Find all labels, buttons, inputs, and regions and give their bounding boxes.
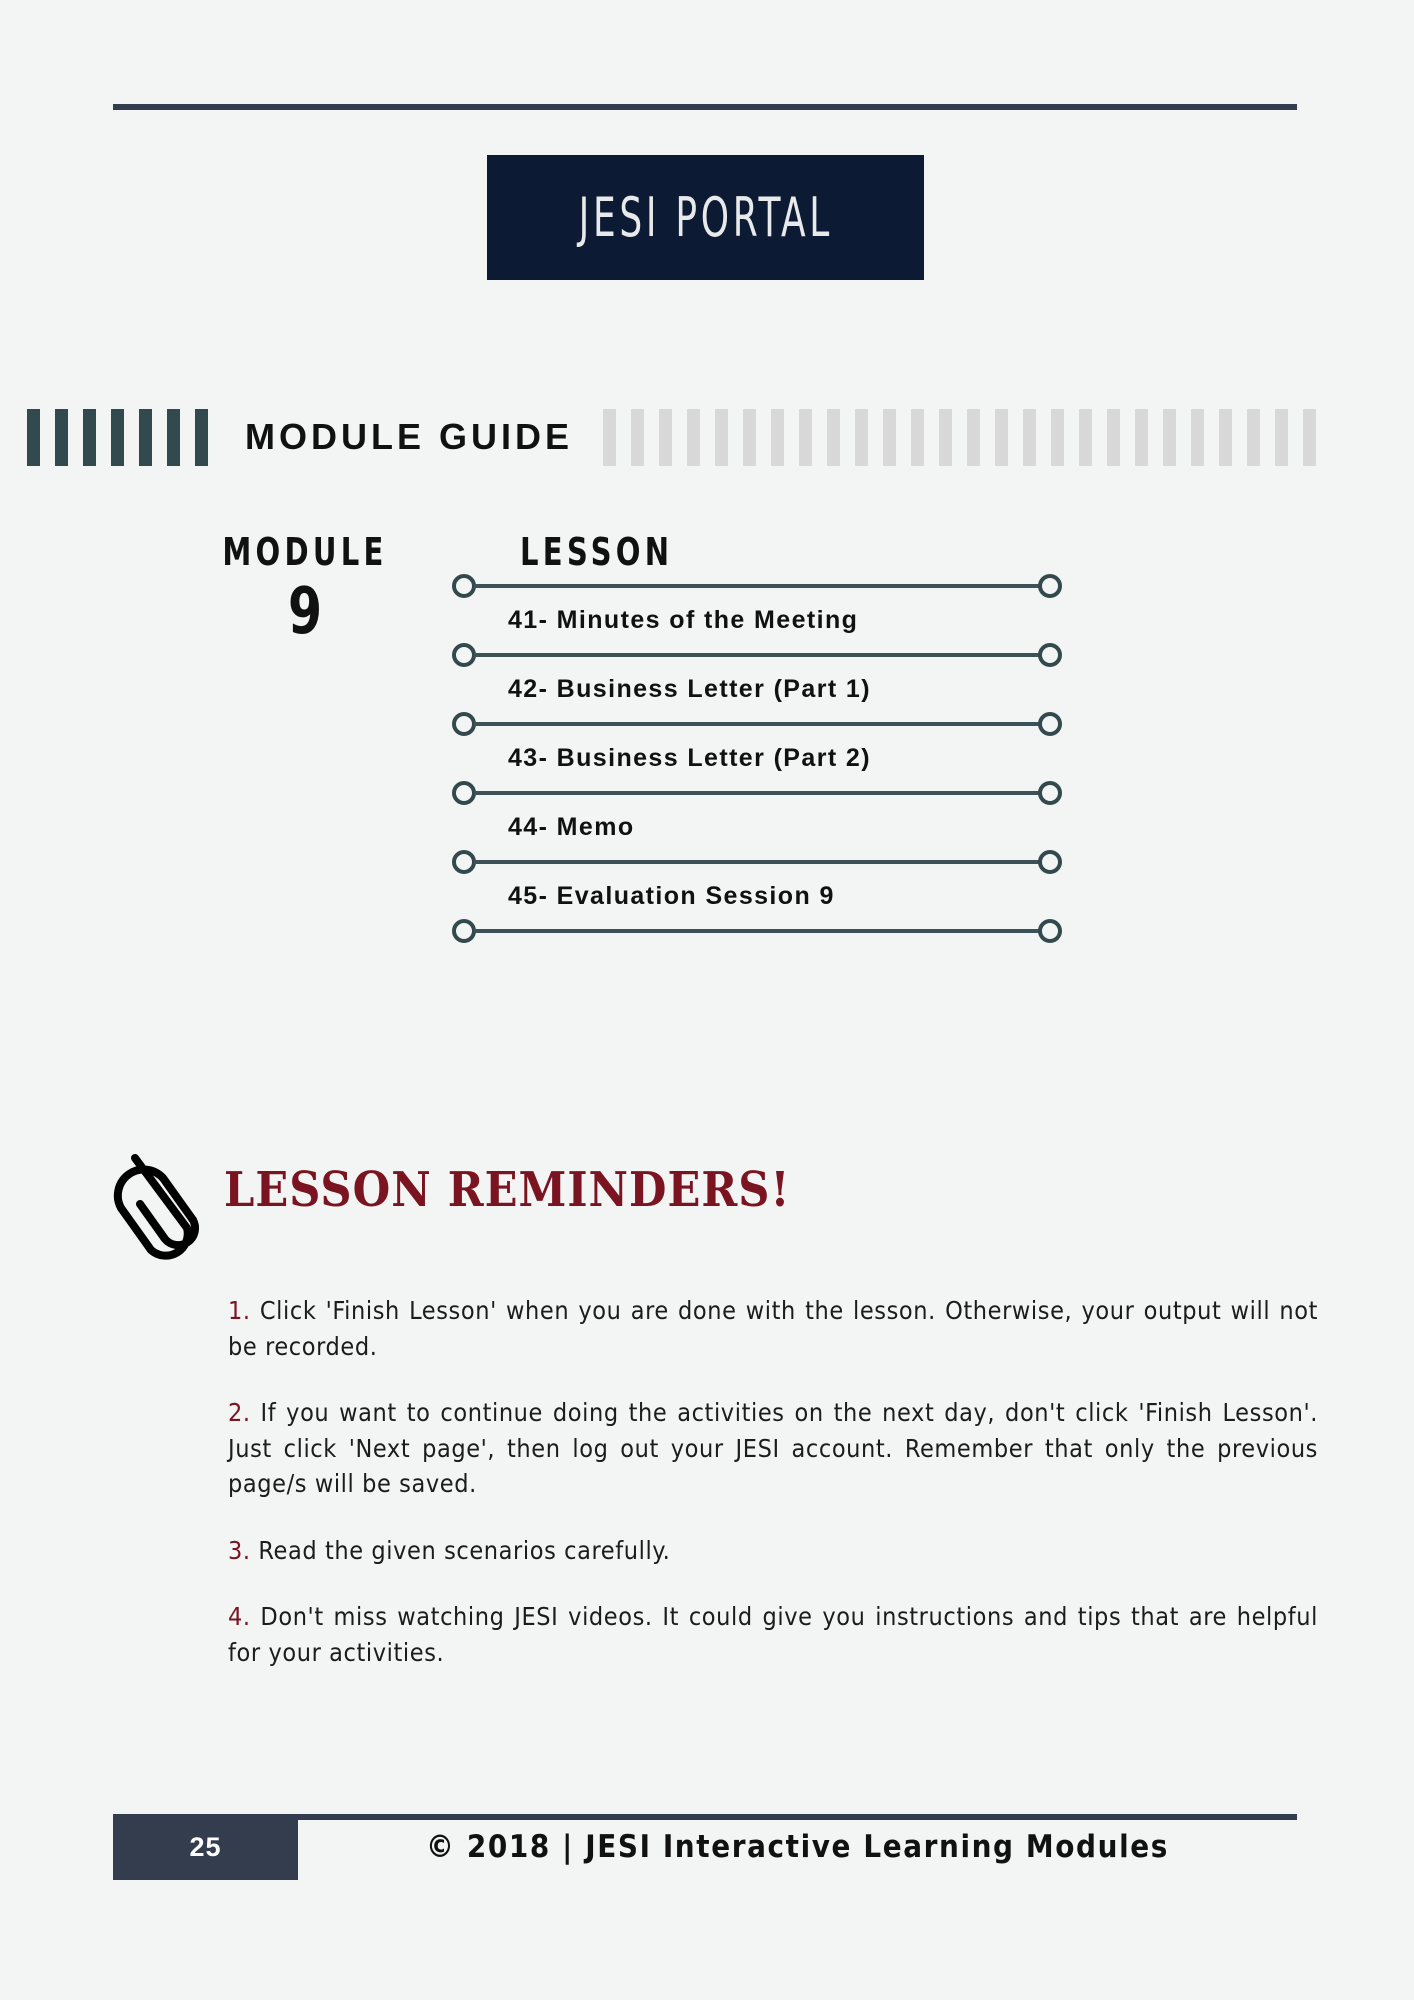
lesson-divider-rail xyxy=(452,919,1062,943)
tick-mark-light xyxy=(1219,409,1232,466)
lesson-list: 41- Minutes of the Meeting42- Business L… xyxy=(452,574,1062,943)
tick-mark-light xyxy=(743,409,756,466)
rail-ring-left xyxy=(452,574,476,598)
tick-mark-light xyxy=(939,409,952,466)
paperclip-icon xyxy=(104,1136,216,1266)
document-page: JESI PORTAL MODULE GUIDE MODULE 9 LESSON… xyxy=(0,0,1414,2000)
tick-mark-dark xyxy=(167,409,180,466)
rail-ring-right xyxy=(1038,643,1062,667)
tick-mark-light xyxy=(1051,409,1064,466)
tick-mark-light xyxy=(1023,409,1036,466)
rail-ring-right xyxy=(1038,781,1062,805)
tick-mark-light xyxy=(799,409,812,466)
tick-mark-light xyxy=(827,409,840,466)
rail-ring-left xyxy=(452,919,476,943)
lesson-heading: LESSON xyxy=(520,530,981,574)
reminder-item: 4. Don't miss watching JESI videos. It c… xyxy=(228,1599,1318,1670)
tick-mark-light xyxy=(883,409,896,466)
reminder-number: 1. xyxy=(228,1296,251,1325)
reminder-number: 2. xyxy=(228,1398,251,1427)
tick-mark-light xyxy=(603,409,616,466)
top-divider-rule xyxy=(113,104,1297,110)
lesson-divider-rail xyxy=(452,712,1062,736)
module-guide-title: MODULE GUIDE xyxy=(245,416,573,458)
tick-mark-light xyxy=(631,409,644,466)
tick-mark-dark xyxy=(27,409,40,466)
module-label: MODULE xyxy=(216,530,395,574)
tick-mark-light xyxy=(1247,409,1260,466)
reminder-item: 1. Click 'Finish Lesson' when you are do… xyxy=(228,1293,1318,1364)
reminder-number: 3. xyxy=(228,1536,251,1565)
tick-mark-light xyxy=(995,409,1008,466)
reminder-item: 2. If you want to continue doing the act… xyxy=(228,1395,1318,1502)
module-number: 9 xyxy=(216,580,395,644)
rail-bar xyxy=(474,860,1040,864)
tick-group-right xyxy=(603,409,1414,466)
tick-mark-light xyxy=(715,409,728,466)
tick-mark-light xyxy=(659,409,672,466)
tick-mark-light xyxy=(771,409,784,466)
rail-bar xyxy=(474,584,1040,588)
reminder-text: Don't miss watching JESI videos. It coul… xyxy=(228,1602,1318,1667)
module-guide-band: MODULE GUIDE xyxy=(0,406,1414,468)
reminders-list: 1. Click 'Finish Lesson' when you are do… xyxy=(228,1268,1318,1670)
tick-mark-light xyxy=(1107,409,1120,466)
portal-title: JESI PORTAL xyxy=(578,186,832,249)
rail-bar xyxy=(474,929,1040,933)
reminder-item: 3. Read the given scenarios carefully. xyxy=(228,1533,1318,1569)
tick-mark-light xyxy=(911,409,924,466)
tick-mark-light xyxy=(967,409,980,466)
rail-ring-left xyxy=(452,850,476,874)
lesson-item[interactable]: 41- Minutes of the Meeting xyxy=(452,598,1062,643)
rail-ring-right xyxy=(1038,850,1062,874)
reminder-number: 4. xyxy=(228,1602,251,1631)
tick-mark-dark xyxy=(111,409,124,466)
rail-ring-right xyxy=(1038,919,1062,943)
tick-mark-light xyxy=(1163,409,1176,466)
module-column: MODULE 9 xyxy=(200,530,410,644)
reminder-text: If you want to continue doing the activi… xyxy=(228,1398,1318,1498)
page-number: 25 xyxy=(189,1832,221,1863)
rail-ring-right xyxy=(1038,574,1062,598)
tick-mark-light xyxy=(1191,409,1204,466)
lesson-item[interactable]: 43- Business Letter (Part 2) xyxy=(452,736,1062,781)
tick-mark-dark xyxy=(195,409,208,466)
lesson-divider-rail xyxy=(452,643,1062,667)
tick-mark-light xyxy=(1135,409,1148,466)
rail-ring-left xyxy=(452,781,476,805)
tick-mark-light xyxy=(1079,409,1092,466)
rail-ring-right xyxy=(1038,712,1062,736)
tick-mark-dark xyxy=(139,409,152,466)
reminders-heading: LESSON REMINDERS! xyxy=(224,1162,790,1218)
tick-mark-dark xyxy=(55,409,68,466)
tick-group-left xyxy=(27,409,223,466)
tick-mark-dark xyxy=(83,409,96,466)
reminder-text: Read the given scenarios carefully. xyxy=(251,1536,671,1565)
rail-ring-left xyxy=(452,643,476,667)
reminder-text: Click 'Finish Lesson' when you are done … xyxy=(228,1296,1318,1361)
portal-title-banner: JESI PORTAL xyxy=(487,155,924,280)
lesson-divider-rail xyxy=(452,781,1062,805)
rail-bar xyxy=(474,653,1040,657)
lesson-divider-rail xyxy=(452,850,1062,874)
rail-ring-left xyxy=(452,712,476,736)
page-number-badge: 25 xyxy=(113,1814,298,1880)
rail-bar xyxy=(474,722,1040,726)
lesson-column: LESSON 41- Minutes of the Meeting42- Bus… xyxy=(452,530,1062,943)
tick-mark-light xyxy=(687,409,700,466)
tick-mark-light xyxy=(855,409,868,466)
tick-mark-light xyxy=(1303,409,1316,466)
lesson-item[interactable]: 42- Business Letter (Part 1) xyxy=(452,667,1062,712)
lesson-item[interactable]: 45- Evaluation Session 9 xyxy=(452,874,1062,919)
footer-copyright: © 2018 | JESI Interactive Learning Modul… xyxy=(298,1814,1297,1880)
rail-bar xyxy=(474,791,1040,795)
tick-mark-light xyxy=(1275,409,1288,466)
lesson-divider-rail xyxy=(452,574,1062,598)
lesson-item[interactable]: 44- Memo xyxy=(452,805,1062,850)
